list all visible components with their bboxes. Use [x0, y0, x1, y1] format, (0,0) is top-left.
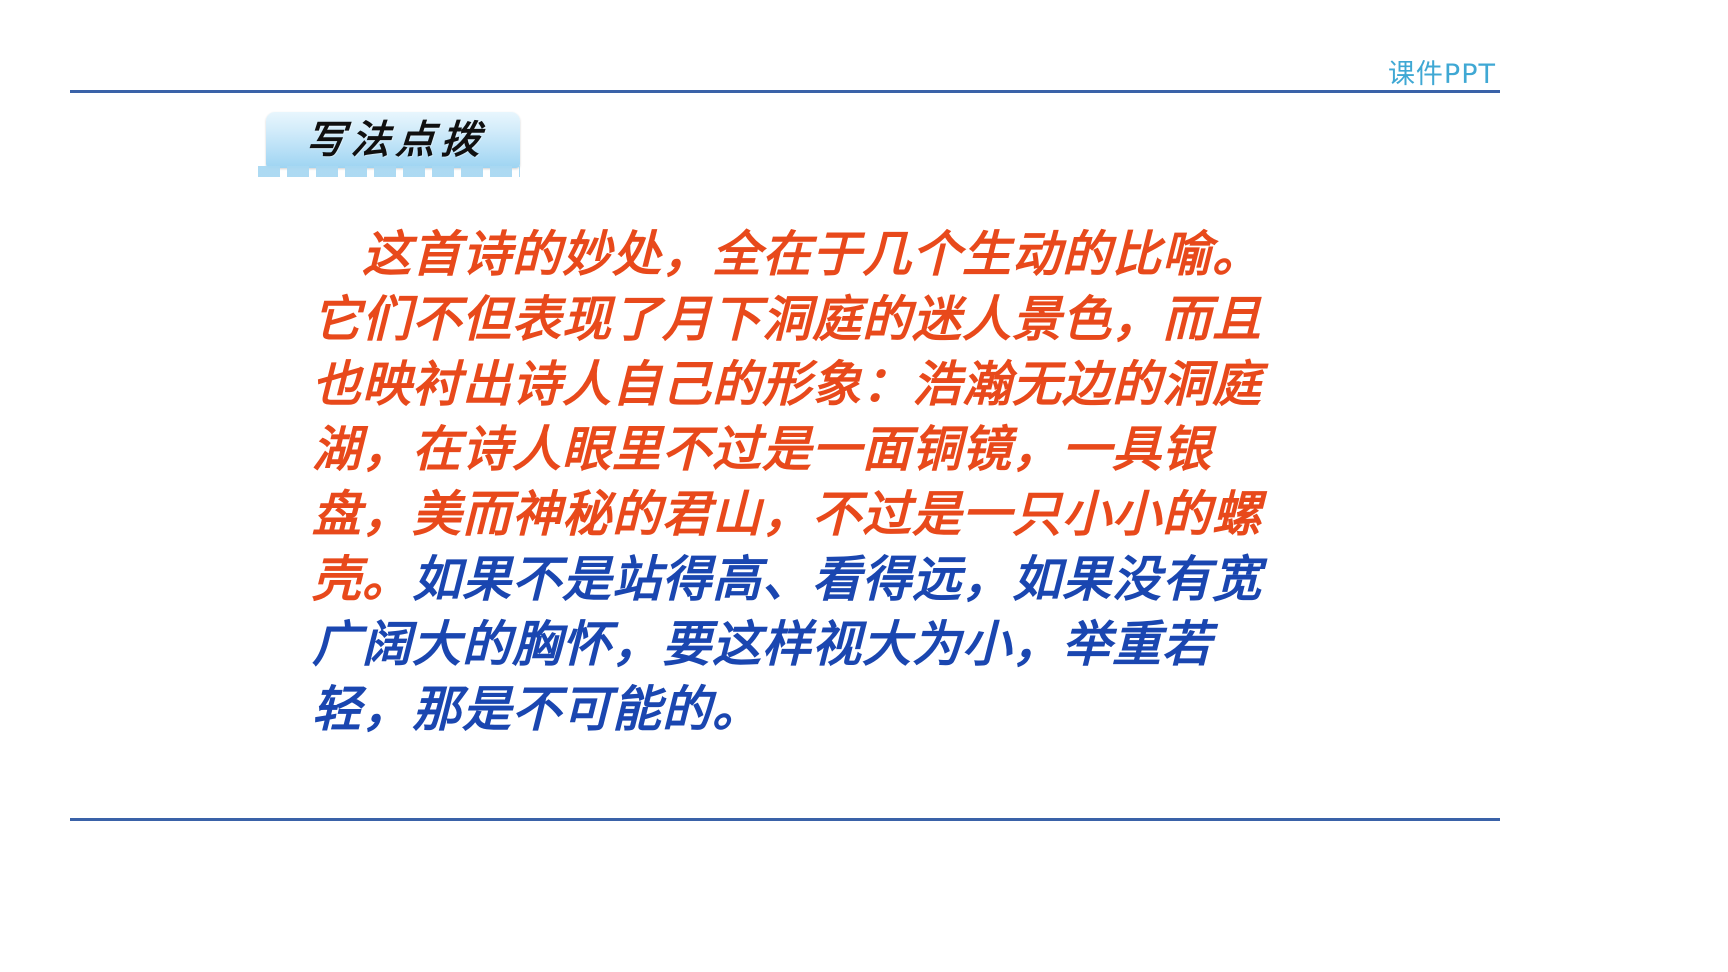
content-segment-blue: 如果不是站得高、看得远，如果没有宽广阔大的胸怀，要这样视大为小，举重若轻，那是不…: [312, 550, 1262, 738]
content-paragraph: 这首诗的妙处，全在于几个生动的比喻。它们不但表现了月下洞庭的迷人景色，而且也映衬…: [312, 222, 1292, 742]
section-title-badge: 写法点拨: [258, 112, 520, 178]
section-title-badge-footer-strip: [258, 166, 520, 177]
section-title-badge-label: 写法点拨: [299, 121, 488, 160]
slide-canvas: 课件PPT 写法点拨 这首诗的妙处，全在于几个生动的比喻。它们不但表现了月下洞庭…: [0, 0, 1728, 972]
section-title-badge-body: 写法点拨: [266, 112, 520, 168]
page-title: 课件PPT: [1388, 52, 1496, 91]
header-divider-line: [70, 90, 1500, 93]
footer-divider-line: [70, 818, 1500, 821]
